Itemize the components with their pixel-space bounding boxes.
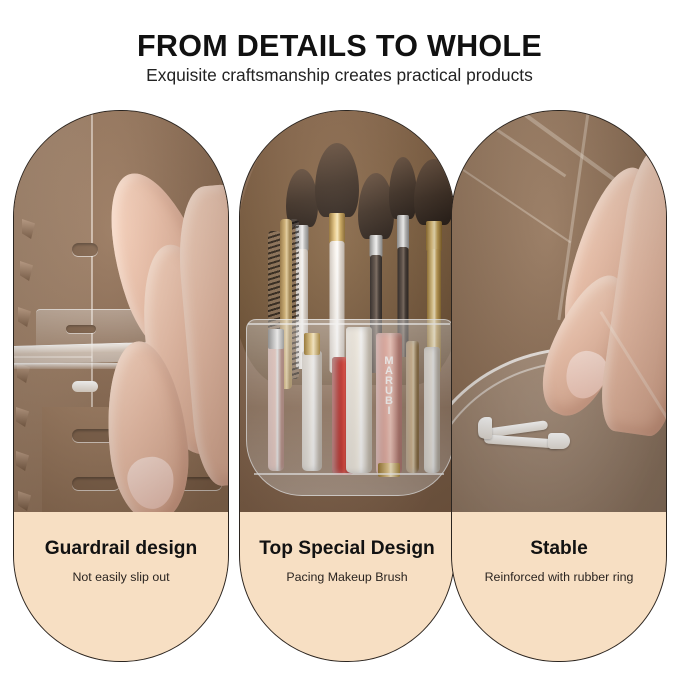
caption-subtitle: Not easily slip out — [14, 570, 228, 584]
photo-vignette — [452, 111, 666, 514]
caption-title: Stable — [452, 538, 666, 560]
panel-guardrail-photo — [14, 111, 228, 514]
caption-subtitle: Reinforced with rubber ring — [452, 570, 666, 584]
infographic-page: FROM DETAILS TO WHOLE Exquisite craftsma… — [0, 0, 679, 679]
panel-stable-photo — [452, 111, 666, 514]
caption-title: Guardrail design — [14, 538, 228, 560]
panel-stable-caption: Stable Reinforced with rubber ring — [452, 512, 666, 661]
caption-title: Top Special Design — [240, 538, 454, 560]
panel-guardrail-caption: Guardrail design Not easily slip out — [14, 512, 228, 661]
panel-stable: Stable Reinforced with rubber ring — [451, 110, 667, 662]
caption-subtitle: Pacing Makeup Brush — [240, 570, 454, 584]
photo-vignette — [14, 111, 228, 514]
panel-guardrail: Guardrail design Not easily slip out — [13, 110, 229, 662]
panel-top-special-caption: Top Special Design Pacing Makeup Brush — [240, 512, 454, 661]
panel-top-special: MARUBI Top Special Design Pacing Makeup … — [239, 110, 455, 662]
panel-top-special-photo: MARUBI — [240, 111, 454, 514]
photo-vignette — [240, 111, 454, 514]
panel-row: Guardrail design Not easily slip out — [0, 0, 679, 679]
